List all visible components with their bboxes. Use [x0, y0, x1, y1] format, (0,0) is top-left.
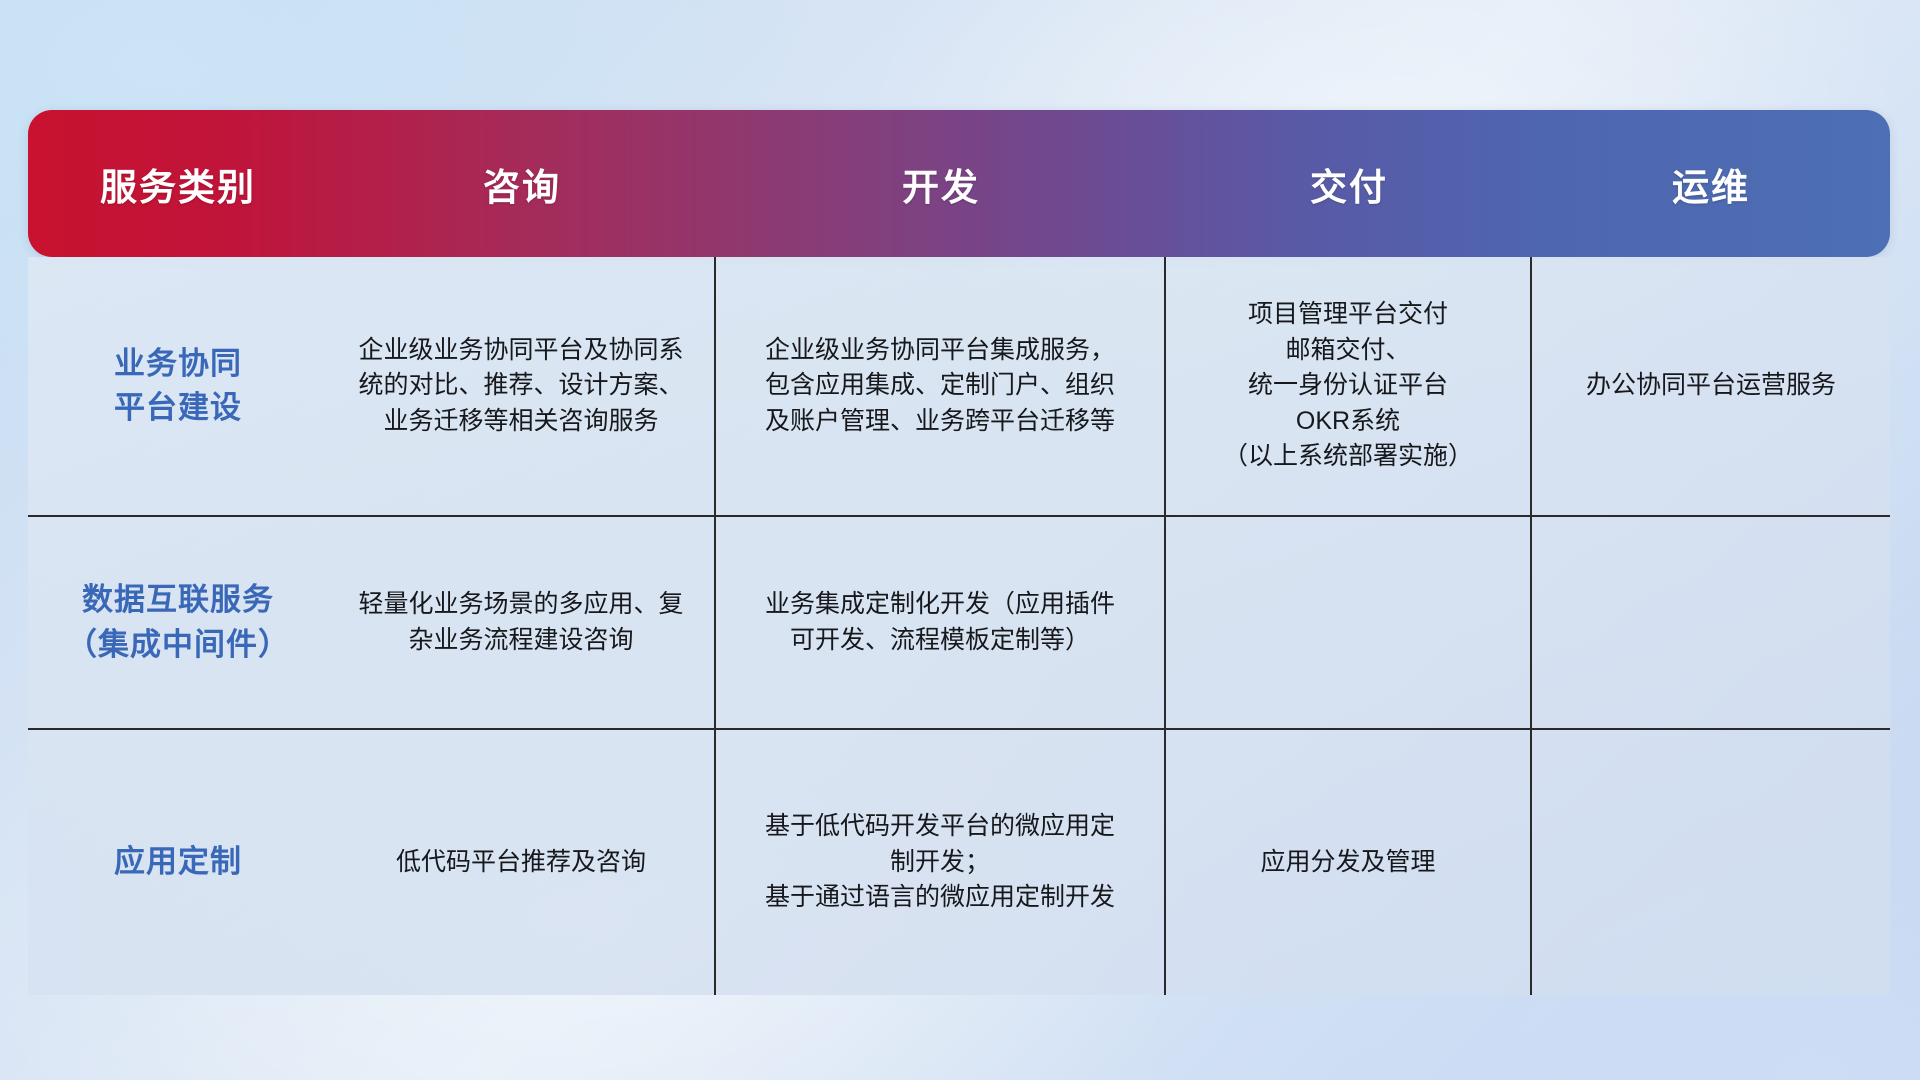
cell-development: 企业级业务协同平台集成服务， 包含应用集成、定制门户、组织 及账户管理、业务跨平… [716, 257, 1166, 515]
row-category-label: 应用定制 [28, 730, 328, 995]
cell-development: 基于低代码开发平台的微应用定 制开发； 基于通过语言的微应用定制开发 [716, 730, 1166, 995]
table-row: 应用定制 低代码平台推荐及咨询 基于低代码开发平台的微应用定 制开发； 基于通过… [28, 730, 1890, 995]
cell-delivery [1166, 517, 1532, 728]
table-header-row: 服务类别 咨询 开发 交付 运维 [28, 110, 1890, 257]
cell-delivery: 应用分发及管理 [1166, 730, 1532, 995]
cell-operations [1532, 730, 1890, 995]
table-body: 业务协同 平台建设 企业级业务协同平台及协同系 统的对比、推荐、设计方案、 业务… [28, 257, 1890, 995]
column-header-service-category: 服务类别 [28, 110, 328, 257]
cell-consulting: 低代码平台推荐及咨询 [328, 730, 716, 995]
column-header-development: 开发 [716, 110, 1166, 257]
cell-delivery: 项目管理平台交付 邮箱交付、 统一身份认证平台 OKR系统 （以上系统部署实施） [1166, 257, 1532, 515]
table-row: 数据互联服务 （集成中间件） 轻量化业务场景的多应用、复 杂业务流程建设咨询 业… [28, 517, 1890, 730]
row-category-label: 业务协同 平台建设 [28, 257, 328, 515]
table-row: 业务协同 平台建设 企业级业务协同平台及协同系 统的对比、推荐、设计方案、 业务… [28, 257, 1890, 517]
cell-consulting: 企业级业务协同平台及协同系 统的对比、推荐、设计方案、 业务迁移等相关咨询服务 [328, 257, 716, 515]
cell-operations [1532, 517, 1890, 728]
row-category-label: 数据互联服务 （集成中间件） [28, 517, 328, 728]
service-matrix-table: 服务类别 咨询 开发 交付 运维 业务协同 平台建设 企业级业务协同平台及协同系… [28, 110, 1890, 995]
cell-development: 业务集成定制化开发（应用插件 可开发、流程模板定制等） [716, 517, 1166, 728]
cell-operations: 办公协同平台运营服务 [1532, 257, 1890, 515]
cell-consulting: 轻量化业务场景的多应用、复 杂业务流程建设咨询 [328, 517, 716, 728]
column-header-operations: 运维 [1532, 110, 1890, 257]
column-header-delivery: 交付 [1166, 110, 1532, 257]
column-header-consulting: 咨询 [328, 110, 716, 257]
